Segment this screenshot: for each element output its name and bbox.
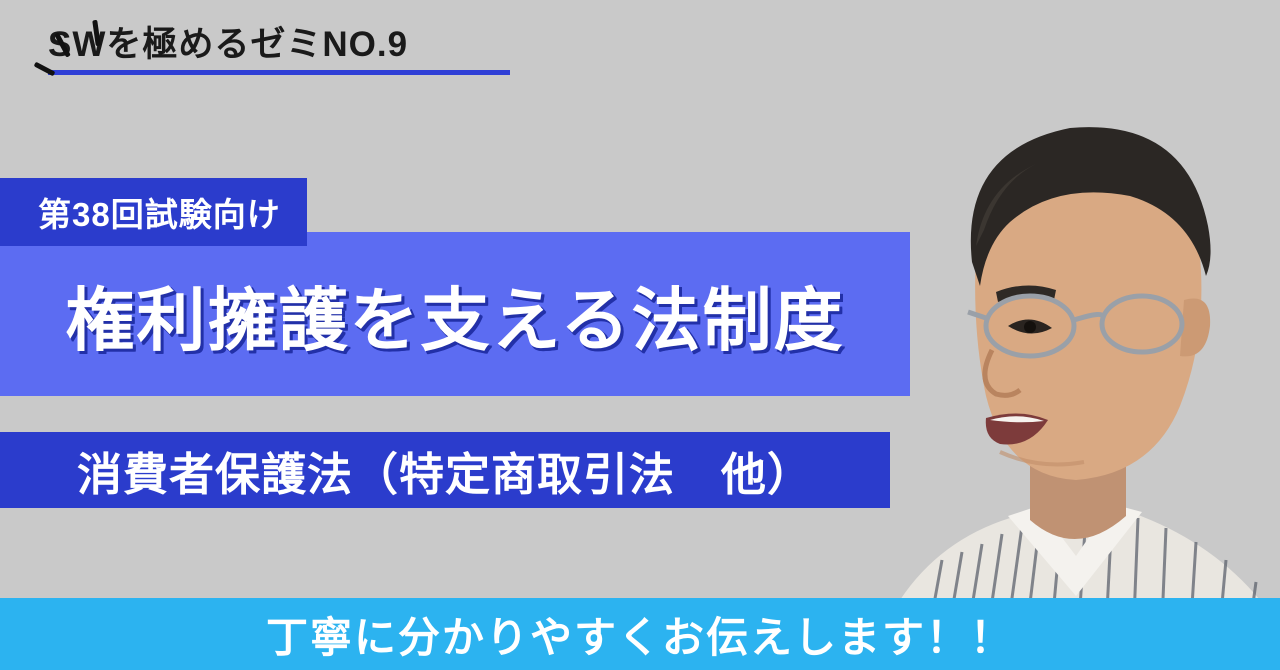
series-label-text: SWを極めるゼミNO.9: [48, 24, 510, 66]
series-label-underline: [48, 70, 510, 75]
presenter-portrait: [880, 0, 1280, 670]
series-label: SWを極めるゼミNO.9: [48, 24, 510, 75]
video-thumbnail: SWを極めるゼミNO.9 第38回試験向け 権利擁護を支える法制度 消費者保護法…: [0, 0, 1280, 670]
bottom-banner-text: 丁寧に分かりやすくお伝えします！！: [266, 604, 1014, 665]
bottom-banner: 丁寧に分かりやすくお伝えします！！: [0, 598, 1280, 670]
presenter-portrait-graphic: [880, 0, 1280, 670]
main-title: 権利擁護を支える法制度: [0, 232, 910, 396]
sub-title: 消費者保護法（特定商取引法 他）: [0, 432, 890, 508]
